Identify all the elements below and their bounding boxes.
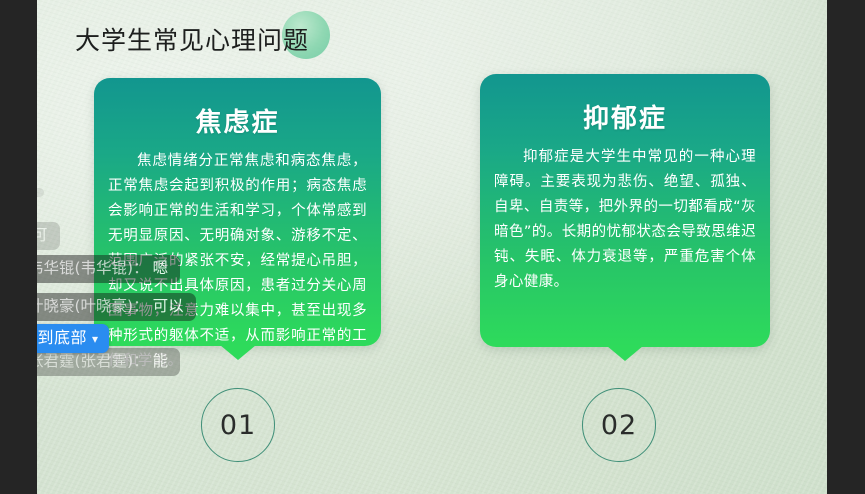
letterbox-bar-left [0,0,37,494]
card-tail-depression [607,346,643,361]
number-badge-01: 01 [201,388,275,462]
presentation-slide: 大学生常见心理问题 焦虑症 焦虑情绪分正常焦虑和病态焦虑，正常焦虑会起到积极的作… [37,0,827,494]
letterbox-bar-right [827,0,865,494]
slide-title: 大学生常见心理问题 [75,16,309,62]
card-body-depression: 抑郁症是大学生中常见的一种心理障碍。主要表现为悲伤、绝望、孤独、自卑、自责等，把… [480,145,770,311]
card-title-depression: 抑郁症 [480,98,770,135]
content-card-anxiety: 焦虑症 焦虑情绪分正常焦虑和病态焦虑，正常焦虑会起到积极的作用；病态焦虑会影响正… [94,78,381,346]
number-badge-02: 02 [582,388,656,462]
content-card-depression: 抑郁症 抑郁症是大学生中常见的一种心理障碍。主要表现为悲伤、绝望、孤独、自卑、自… [480,74,770,347]
video-player-frame: 大学生常见心理问题 焦虑症 焦虑情绪分正常焦虑和病态焦虑，正常焦虑会起到积极的作… [0,0,865,494]
card-title-anxiety: 焦虑症 [94,102,381,139]
slide-title-text: 大学生常见心理问题 [75,21,309,57]
double-chevron-down-icon: ▾ [92,330,99,348]
card-tail-anxiety [220,345,256,360]
